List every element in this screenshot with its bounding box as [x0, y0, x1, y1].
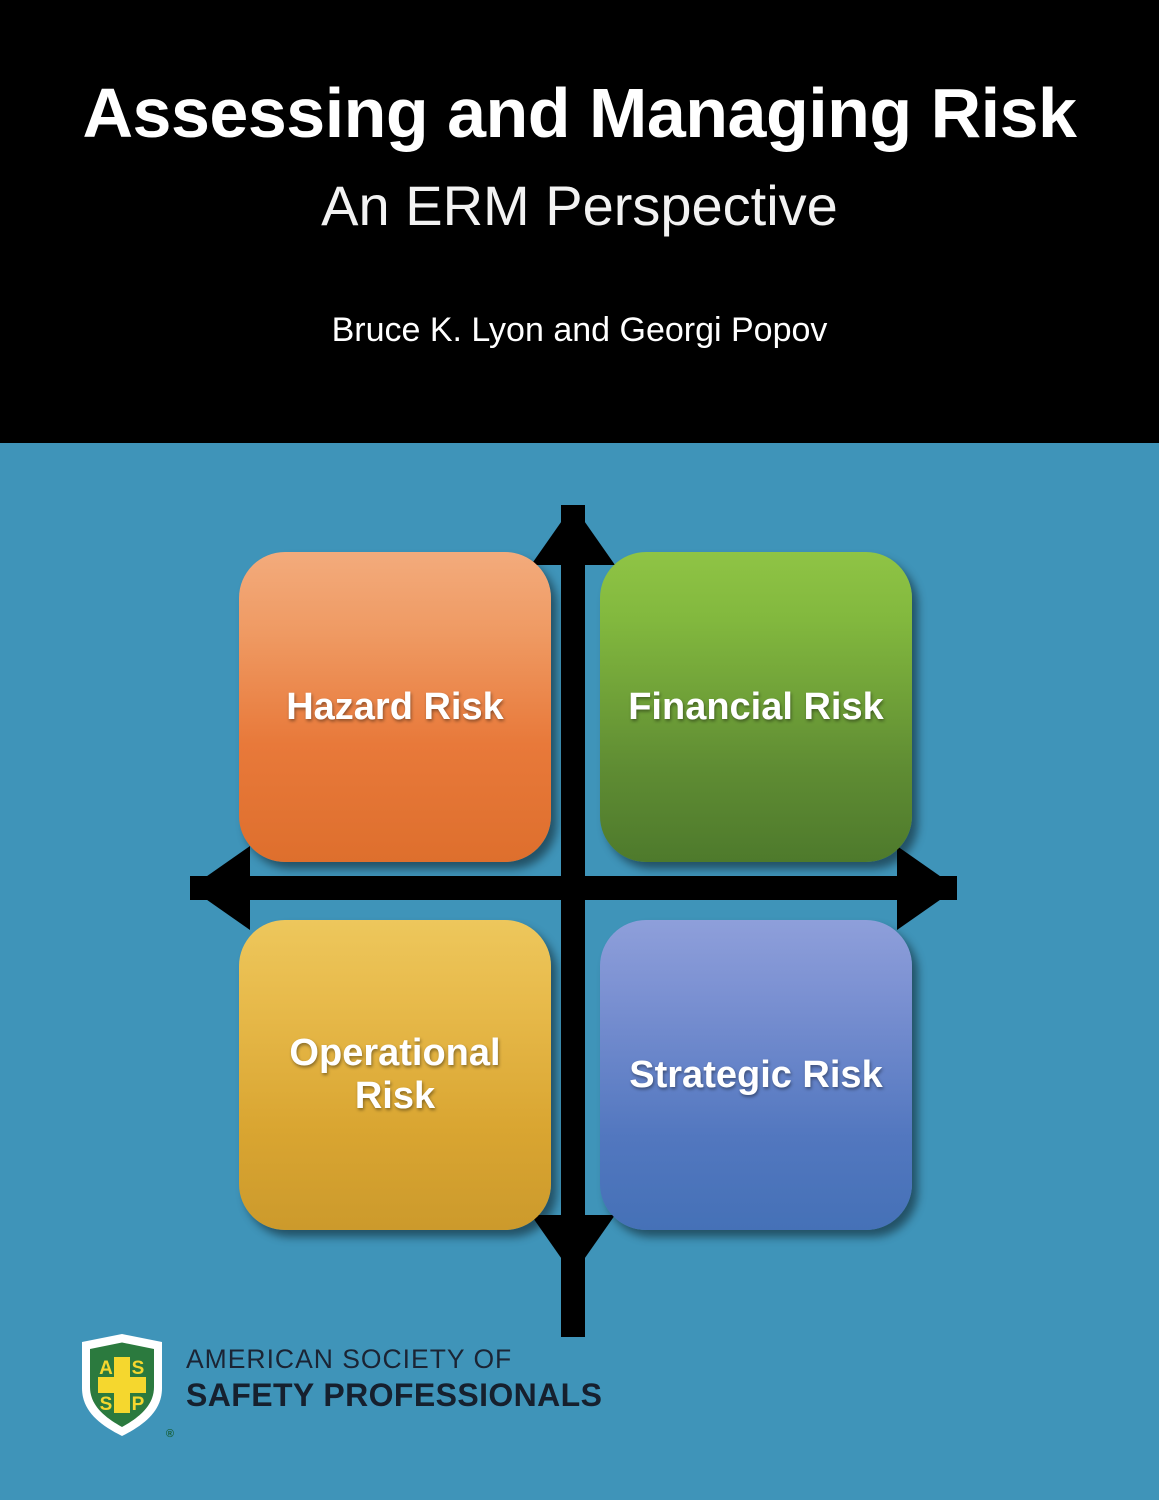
assp-wordmark-line2: SAFETY PROFESSIONALS: [186, 1379, 602, 1411]
quadrant-hazard-risk-label: Hazard Risk: [286, 686, 504, 729]
arrow-right-icon: [897, 846, 957, 930]
assp-wordmark: AMERICAN SOCIETY OF SAFETY PROFESSIONALS: [186, 1346, 602, 1411]
quadrant-financial-risk-label: Financial Risk: [628, 686, 884, 729]
quadrant-strategic-risk-label: Strategic Risk: [629, 1054, 882, 1097]
vertical-axis-line: [561, 505, 585, 1337]
registered-mark: ®: [166, 1428, 174, 1440]
svg-text:P: P: [132, 1394, 145, 1415]
quadrant-financial-risk: Financial Risk: [600, 552, 912, 862]
arrow-down-icon: [531, 1215, 615, 1275]
quadrant-operational-risk: Operational Risk: [239, 920, 551, 1230]
assp-wordmark-line1: AMERICAN SOCIETY OF: [186, 1346, 602, 1373]
arrow-up-icon: [531, 505, 615, 565]
header-band: Assessing and Managing Risk An ERM Persp…: [0, 0, 1159, 443]
page-title: Assessing and Managing Risk: [0, 78, 1159, 148]
svg-text:S: S: [132, 1358, 145, 1379]
svg-text:S: S: [100, 1394, 113, 1415]
horizontal-axis-line: [190, 876, 957, 900]
authors-line: Bruce K. Lyon and Georgi Popov: [0, 313, 1159, 347]
book-cover: Assessing and Managing Risk An ERM Persp…: [0, 0, 1159, 1500]
quadrant-hazard-risk: Hazard Risk: [239, 552, 551, 862]
assp-logo: A S S P ® AMERICAN SOCIETY OF SAFETY PRO…: [76, 1332, 516, 1442]
assp-shield-icon: A S S P ®: [76, 1332, 168, 1440]
svg-text:A: A: [99, 1358, 113, 1379]
arrow-left-icon: [190, 846, 250, 930]
quadrant-strategic-risk: Strategic Risk: [600, 920, 912, 1230]
quadrant-operational-risk-label: Operational Risk: [289, 1032, 500, 1117]
page-subtitle: An ERM Perspective: [0, 178, 1159, 234]
